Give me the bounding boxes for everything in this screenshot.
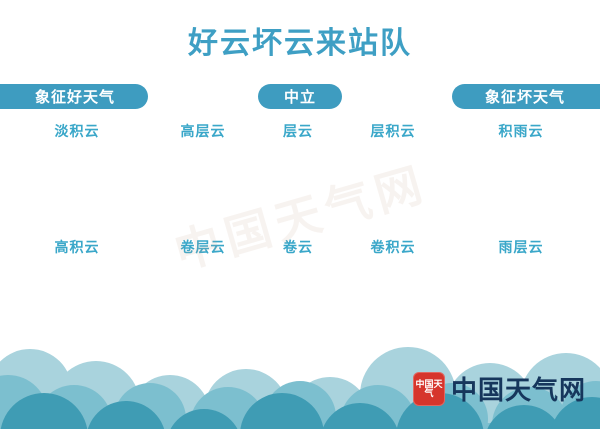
category-badge-bad-weather-label: 象征坏天气 — [485, 86, 565, 107]
category-badge-good-weather: 象征好天气 — [0, 84, 148, 109]
cloud-label-7: 卷层云 — [153, 238, 253, 256]
cloud-photo-4 — [354, 144, 432, 222]
page-title: 好云坏云来站队 — [0, 18, 600, 62]
cloud-card-1: 淡积云 — [27, 122, 127, 222]
cloud-photo-1 — [38, 144, 116, 222]
cloud-photo-1-image — [38, 144, 116, 222]
cloud-photo-2-image — [164, 144, 242, 222]
cloud-card-2: 高层云 — [153, 122, 253, 222]
cloud-label-9: 卷积云 — [343, 238, 443, 256]
cloud-label-5: 积雨云 — [471, 122, 571, 140]
cloud-card-5: 积雨云 — [471, 122, 571, 222]
cloud-label-4: 层积云 — [343, 122, 443, 140]
seal-icon-text: 中国天气 — [413, 380, 445, 398]
cloud-label-2: 高层云 — [153, 122, 253, 140]
cloud-photo-3-image — [259, 144, 337, 222]
category-badge-good-weather-label: 象征好天气 — [35, 86, 115, 107]
cloud-photo-5 — [482, 144, 560, 222]
cloud-card-4: 层积云 — [343, 122, 443, 222]
cloud-card-3: 层云 — [248, 122, 348, 222]
cloud-photo-3 — [259, 144, 337, 222]
cloud-label-8: 卷云 — [248, 238, 348, 256]
site-logo: 中国天气 中国天气网 — [413, 370, 586, 407]
cloud-photo-2 — [164, 144, 242, 222]
infographic-page: 好云坏云来站队 象征好天气 中立 象征坏天气 淡积云 高层云 层云 层积云 积雨… — [0, 0, 600, 429]
seal-icon: 中国天气 — [413, 372, 445, 406]
category-badge-bad-weather: 象征坏天气 — [452, 84, 600, 109]
cloud-label-3: 层云 — [248, 122, 348, 140]
category-badge-neutral: 中立 — [258, 84, 342, 109]
cloud-photo-4-image — [354, 144, 432, 222]
cloud-label-1: 淡积云 — [27, 122, 127, 140]
cloud-label-6: 高积云 — [27, 238, 127, 256]
cloud-photo-5-image — [482, 144, 560, 222]
cloud-label-10: 雨层云 — [471, 238, 571, 256]
brand-name: 中国天气网 — [451, 370, 586, 407]
category-badge-neutral-label: 中立 — [284, 86, 316, 107]
